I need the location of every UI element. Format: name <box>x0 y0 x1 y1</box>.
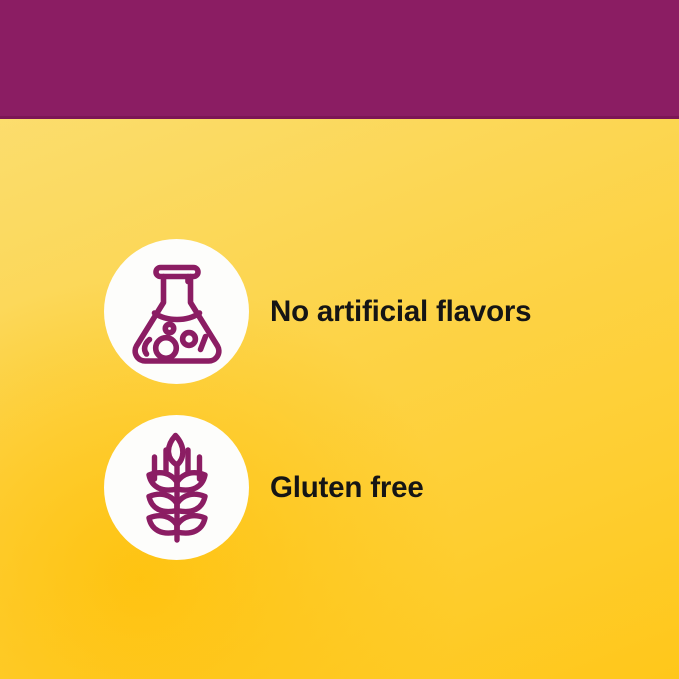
icon-circle-no-artificial-flavors <box>104 239 249 384</box>
flask-icon <box>129 260 225 364</box>
feature-label-gluten-free: Gluten free <box>270 471 424 505</box>
header-band <box>0 0 679 116</box>
feature-row: Gluten free <box>104 415 424 560</box>
header-underline-divider <box>0 116 679 119</box>
icon-circle-gluten-free <box>104 415 249 560</box>
wheat-icon <box>136 432 218 544</box>
quality-badges-panel: Quality you can trust <box>0 0 679 679</box>
feature-label-no-artificial-flavors: No artificial flavors <box>270 295 531 329</box>
feature-row: No artificial flavors <box>104 239 531 384</box>
